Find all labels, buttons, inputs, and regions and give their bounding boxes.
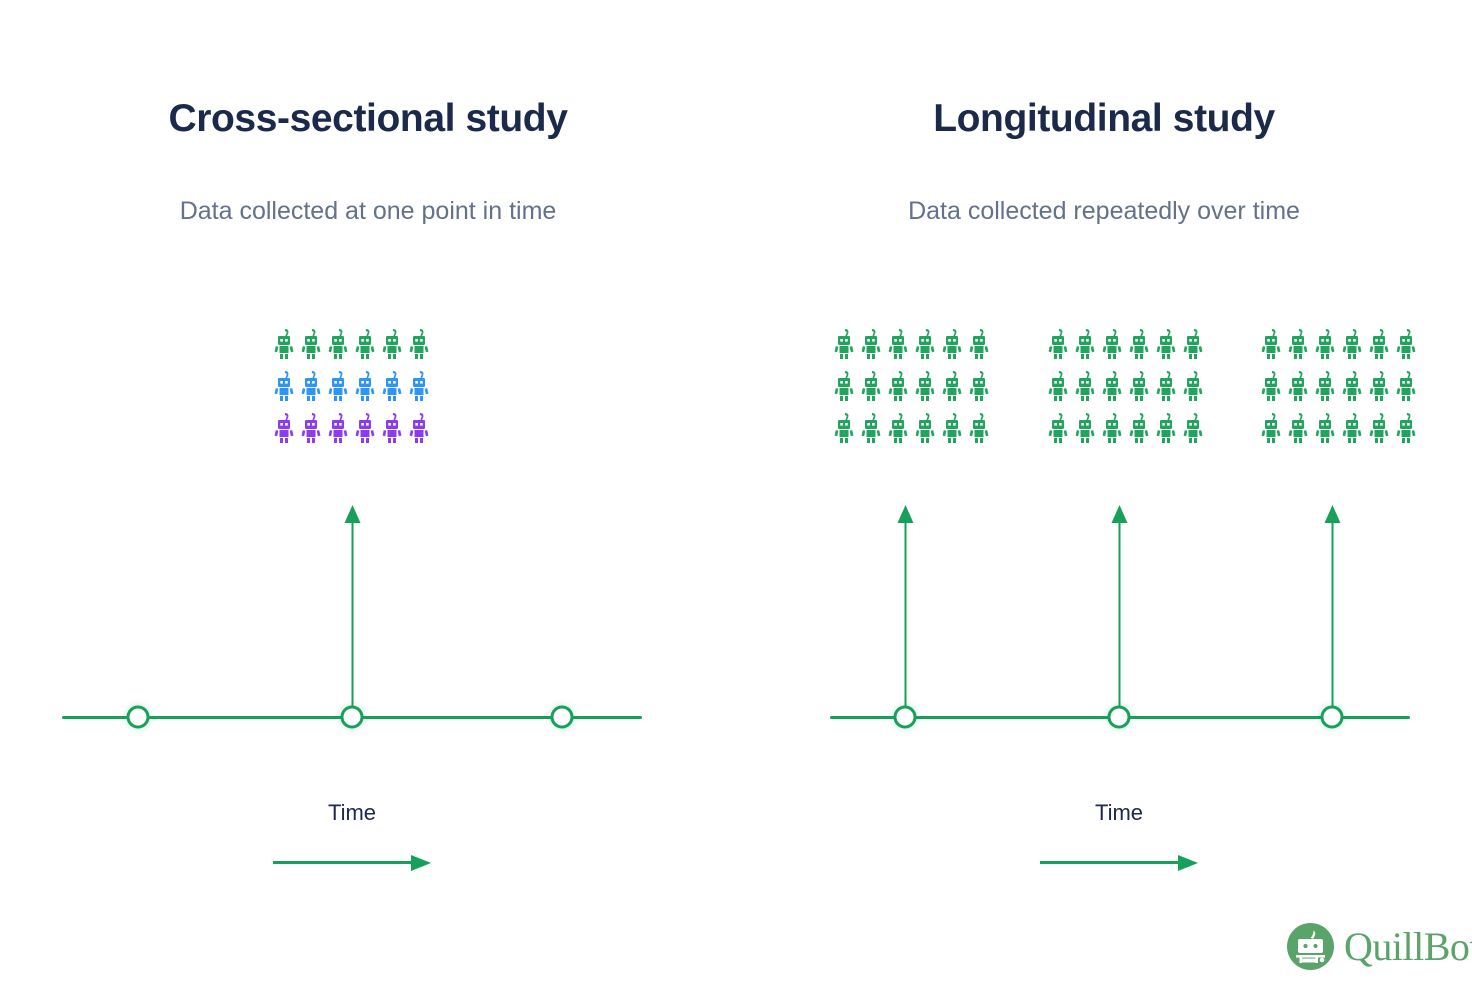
robot-icon	[272, 328, 296, 359]
robot-icon	[1259, 412, 1283, 443]
robot-group-sample-wave-3	[1257, 328, 1419, 454]
robot-icon	[1394, 412, 1418, 443]
robot-icon	[380, 370, 404, 401]
timeline-node[interactable]	[127, 706, 150, 729]
timeline-node[interactable]	[341, 706, 364, 729]
robot-icon	[1340, 328, 1364, 359]
arrow-shaft	[273, 861, 413, 864]
robot-icon	[380, 328, 404, 359]
timeline-node[interactable]	[1108, 706, 1131, 729]
robot-icon	[886, 412, 910, 443]
robot-icon	[1073, 328, 1097, 359]
measurement-arrow-up	[1112, 505, 1127, 720]
axis-label-time: Time	[252, 800, 452, 826]
robot-icon	[1127, 412, 1151, 443]
robot-icon	[1259, 328, 1283, 359]
timeline-node[interactable]	[1321, 706, 1344, 729]
robot-icon	[1367, 328, 1391, 359]
robot-icon	[1154, 370, 1178, 401]
robot-icon	[1154, 328, 1178, 359]
page-title-longitudinal: Longitudinal study	[736, 96, 1472, 143]
robot-icon	[913, 370, 937, 401]
robot-icon	[967, 412, 991, 443]
arrow-shaft	[1118, 521, 1120, 720]
robot-icon	[1154, 412, 1178, 443]
robot-icon	[913, 412, 937, 443]
robot-icon	[1127, 370, 1151, 401]
arrow-shaft	[904, 521, 906, 720]
robot-icon	[353, 370, 377, 401]
robot-icon	[859, 412, 883, 443]
robot-icon	[1367, 370, 1391, 401]
robot-icon	[1073, 412, 1097, 443]
robot-icon	[1286, 370, 1310, 401]
subtitle-cross-sectional: Data collected at one point in time	[128, 193, 608, 230]
quillbot-wordmark: QuillBot	[1344, 927, 1472, 967]
robot-icon	[1367, 412, 1391, 443]
robot-icon	[859, 328, 883, 359]
robot-icon	[407, 370, 431, 401]
robot-group-sample-wave-2	[1044, 328, 1206, 454]
robot-group-sample-single-wave	[270, 328, 432, 454]
right-arrow-icon	[1178, 855, 1198, 871]
robot-icon	[1340, 412, 1364, 443]
robot-icon	[407, 412, 431, 443]
robot-icon	[940, 412, 964, 443]
robot-icon	[886, 328, 910, 359]
robot-icon	[1100, 328, 1124, 359]
robot-icon	[380, 412, 404, 443]
measurement-arrow-up	[1325, 505, 1340, 720]
subtitle-longitudinal: Data collected repeatedly over time	[864, 193, 1344, 230]
robot-icon	[1181, 412, 1205, 443]
robot-icon	[326, 370, 350, 401]
robot-icon	[967, 370, 991, 401]
robot-group-sample-wave-1	[830, 328, 992, 454]
robot-icon	[272, 370, 296, 401]
robot-icon	[1286, 328, 1310, 359]
robot-icon	[1313, 328, 1337, 359]
robot-icon	[832, 412, 856, 443]
robot-icon	[1046, 412, 1070, 443]
measurement-arrow-up	[898, 505, 913, 720]
robot-icon	[1181, 328, 1205, 359]
robot-icon	[1127, 328, 1151, 359]
robot-icon	[967, 328, 991, 359]
page-title-cross-sectional: Cross-sectional study	[0, 96, 736, 143]
arrow-shaft	[351, 521, 353, 720]
robot-icon	[299, 370, 323, 401]
robot-icon	[326, 328, 350, 359]
timeline-node[interactable]	[551, 706, 574, 729]
quillbot-logo[interactable]: QuillBot	[1286, 922, 1472, 971]
robot-icon	[407, 328, 431, 359]
robot-icon	[1046, 370, 1070, 401]
robot-icon	[353, 412, 377, 443]
robot-icon	[1181, 370, 1205, 401]
robot-icon	[832, 328, 856, 359]
robot-icon	[940, 370, 964, 401]
robot-icon	[1073, 370, 1097, 401]
measurement-arrow-up	[345, 505, 360, 720]
robot-icon	[886, 370, 910, 401]
time-direction-arrow	[273, 855, 431, 869]
quillbot-robot-icon	[1286, 922, 1335, 971]
panel-cross-sectional: Cross-sectional study Data collected at …	[0, 0, 736, 1006]
infographic-canvas: Cross-sectional study Data collected at …	[0, 0, 1472, 1006]
robot-icon	[1394, 370, 1418, 401]
robot-icon	[299, 328, 323, 359]
robot-icon	[1259, 370, 1283, 401]
robot-icon	[1286, 412, 1310, 443]
right-arrow-icon	[411, 855, 431, 871]
robot-icon	[1100, 412, 1124, 443]
robot-icon	[940, 328, 964, 359]
arrow-shaft	[1331, 521, 1333, 720]
robot-icon	[299, 412, 323, 443]
robot-icon	[1046, 328, 1070, 359]
robot-icon	[913, 328, 937, 359]
time-direction-arrow	[1040, 855, 1198, 869]
robot-icon	[1340, 370, 1364, 401]
robot-icon	[1100, 370, 1124, 401]
robot-icon	[326, 412, 350, 443]
robot-icon	[353, 328, 377, 359]
robot-icon	[272, 412, 296, 443]
timeline-node[interactable]	[894, 706, 917, 729]
robot-icon	[1313, 412, 1337, 443]
robot-icon	[832, 370, 856, 401]
arrow-shaft	[1040, 861, 1180, 864]
axis-label-time: Time	[1019, 800, 1219, 826]
robot-icon	[1394, 328, 1418, 359]
robot-icon	[859, 370, 883, 401]
robot-icon	[1313, 370, 1337, 401]
